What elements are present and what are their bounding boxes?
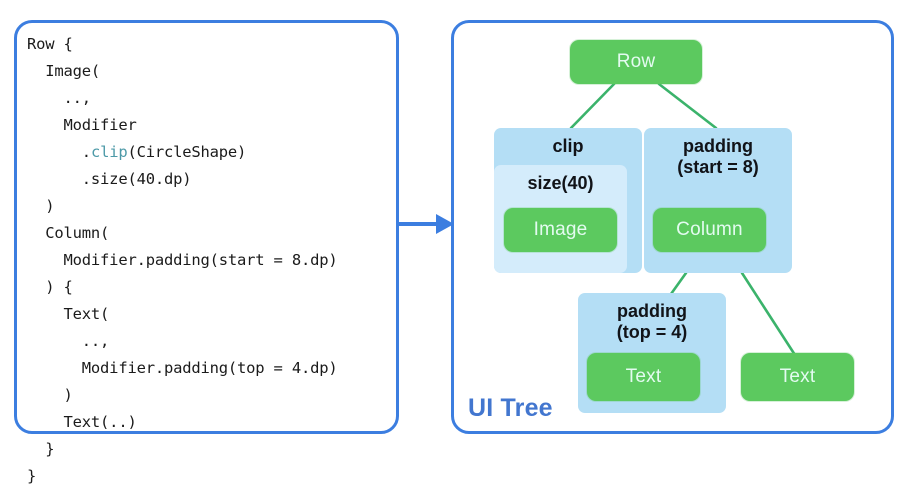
modifier-label-padding-start-line2: (start = 8): [644, 157, 792, 178]
code-line: Modifier.padding(start = 8.dp): [27, 251, 337, 269]
tree-node-text-2[interactable]: Text: [741, 353, 854, 401]
arrow-right-icon: [396, 207, 456, 241]
modifier-label-padding-top: padding (top = 4): [578, 293, 726, 343]
code-line: Image(: [27, 62, 100, 80]
code-line: ..,: [27, 332, 109, 350]
code-line: Text(..): [27, 413, 137, 431]
tree-node-text-2-label: Text: [780, 366, 816, 388]
tree-node-image[interactable]: Image: [504, 208, 617, 252]
tree-node-row-label: Row: [617, 51, 656, 73]
code-line: ..,: [27, 89, 91, 107]
code-line: }: [27, 467, 36, 485]
code-snippet: Row { Image( .., Modifier .clip(CircleSh…: [27, 31, 337, 490]
code-line: }: [27, 440, 54, 458]
code-line: Text(: [27, 305, 109, 323]
modifier-label-padding-start-line1: padding: [683, 136, 753, 156]
tree-node-text-1-label: Text: [626, 366, 662, 388]
tree-node-image-label: Image: [534, 219, 588, 241]
ui-tree-caption: UI Tree: [468, 394, 553, 423]
code-line: Modifier.padding(top = 4.dp): [27, 359, 337, 377]
modifier-label-padding-top-line1: padding: [617, 301, 687, 321]
code-line: Column(: [27, 224, 109, 242]
diagram-root: Row { Image( .., Modifier .clip(CircleSh…: [0, 0, 904, 452]
tree-node-column-label: Column: [676, 219, 743, 241]
tree-node-row[interactable]: Row: [570, 40, 702, 84]
modifier-label-clip: clip: [494, 128, 642, 157]
modifier-label-size: size(40): [494, 165, 627, 194]
code-line: ): [27, 197, 54, 215]
code-line: Modifier: [27, 116, 137, 134]
code-line: .clip(CircleShape): [27, 143, 246, 161]
tree-node-column[interactable]: Column: [653, 208, 766, 252]
modifier-label-padding-start: padding (start = 8): [644, 128, 792, 178]
code-token-clip: clip: [91, 143, 128, 161]
ui-tree-panel: Row clip size(40) Image padding (start =…: [451, 20, 894, 434]
tree-node-text-1[interactable]: Text: [587, 353, 700, 401]
code-line: .size(40.dp): [27, 170, 191, 188]
code-line: ): [27, 386, 73, 404]
code-line: ) {: [27, 278, 73, 296]
modifier-label-padding-top-line2: (top = 4): [578, 322, 726, 343]
code-line: Row {: [27, 35, 73, 53]
code-panel: Row { Image( .., Modifier .clip(CircleSh…: [14, 20, 399, 434]
